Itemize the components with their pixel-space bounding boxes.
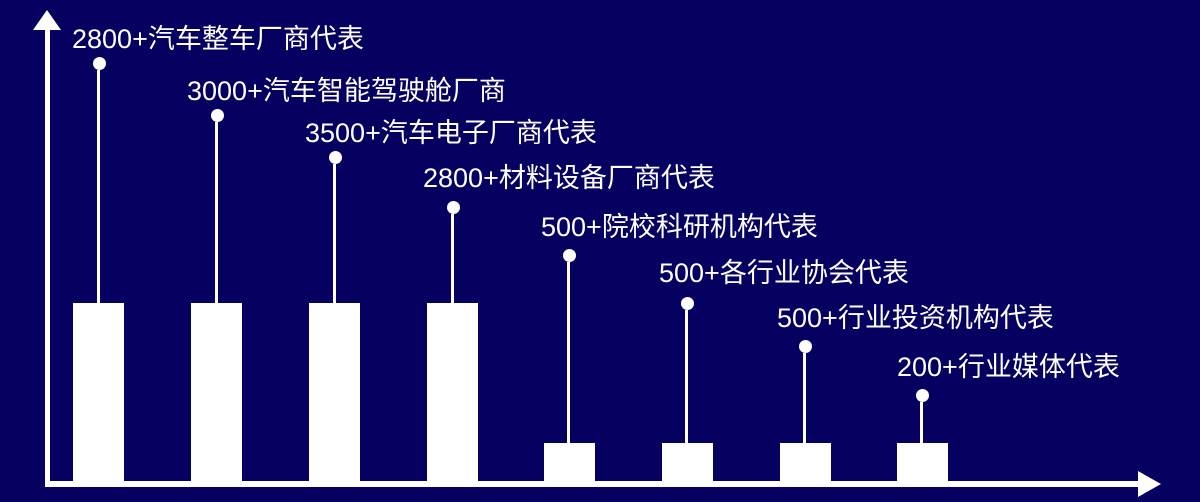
callout-auto-electronics-leader-line [333,164,336,303]
callout-industry-associations-label: 500+各行业协会代表 [659,258,909,288]
attendee-composition-chart: 2800+汽车整车厂商代表3000+汽车智能驾驶舱厂商3500+汽车电子厂商代表… [0,0,1200,502]
callout-vehicle-manufacturers-label: 2800+汽车整车厂商代表 [72,24,364,54]
callout-smart-cockpit-leader-line [215,122,218,303]
callout-smart-cockpit-label: 3000+汽车智能驾驶舱厂商 [187,76,506,106]
callout-industry-media-label: 200+行业媒体代表 [897,352,1120,382]
callout-industry-media-marker-dot [916,389,929,402]
bar-smart-cockpit [191,303,242,482]
callout-materials-equipment-marker-dot [447,201,460,214]
bar-industry-associations [662,443,713,482]
bar-auto-electronics [309,303,360,482]
callout-industry-associations-leader-line [685,310,688,443]
callout-investment-firms-leader-line [803,353,806,443]
bar-materials-equipment [427,303,478,482]
y-axis-line [45,24,50,486]
bar-research-institutes [544,443,595,482]
callout-research-institutes-leader-line [567,262,570,443]
callout-auto-electronics-marker-dot [329,151,342,164]
callout-auto-electronics-label: 3500+汽车电子厂商代表 [305,118,597,148]
bar-investment-firms [780,443,831,482]
callout-research-institutes-label: 500+院校科研机构代表 [541,212,818,242]
callout-industry-associations-marker-dot [681,297,694,310]
callout-vehicle-manufacturers-leader-line [97,70,100,303]
callout-materials-equipment-leader-line [451,214,454,303]
callout-industry-media-leader-line [920,402,923,443]
y-axis-arrow-icon [33,10,61,30]
callout-research-institutes-marker-dot [563,249,576,262]
callout-smart-cockpit-marker-dot [211,109,224,122]
callout-vehicle-manufacturers-marker-dot [93,57,106,70]
bar-vehicle-manufacturers [73,303,124,482]
callout-investment-firms-label: 500+行业投资机构代表 [777,303,1054,333]
callout-investment-firms-marker-dot [799,340,812,353]
bar-industry-media [897,443,948,482]
callout-materials-equipment-label: 2800+材料设备厂商代表 [423,163,715,193]
x-axis-arrow-icon [1138,471,1161,497]
